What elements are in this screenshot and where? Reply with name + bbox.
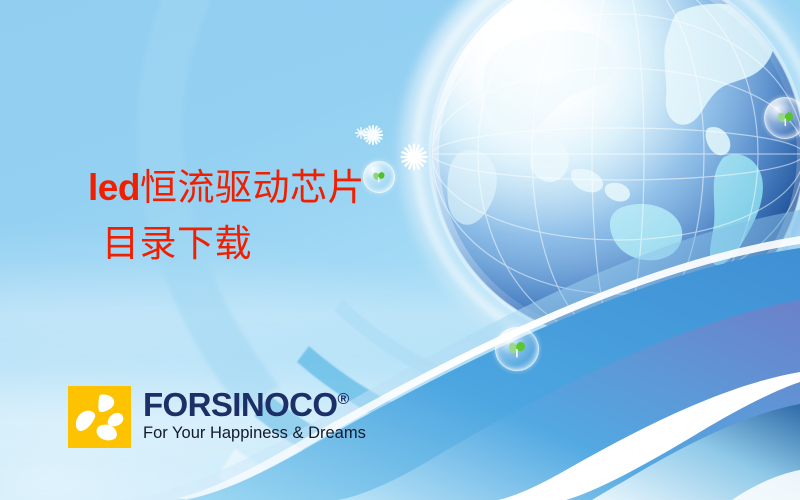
sprout-icon: [775, 108, 796, 129]
sparkle-mid-icon: [362, 124, 384, 146]
four-petal-flower-glyph: [68, 386, 131, 448]
bubble-sprout-left: [363, 161, 395, 193]
title-line-1: led恒流驱动芯片: [88, 166, 365, 209]
sparkle-large-icon: [400, 143, 428, 171]
brand-tagline: For Your Happiness & Dreams: [143, 424, 366, 442]
poster-canvas: led恒流驱动芯片 目录下载 FORSINOCO® For Your Happi…: [0, 0, 800, 500]
brand-logo: FORSINOCO® For Your Happiness & Dreams: [68, 386, 366, 448]
four-petal-flower-icon: [68, 386, 131, 448]
title-line-2: 目录下载: [88, 216, 365, 272]
brand-name-text: FORSINOCO: [143, 386, 337, 423]
registered-trademark-icon: ®: [337, 391, 349, 408]
sprout-icon: [371, 169, 387, 185]
bubble-sprout-right: [764, 97, 800, 139]
page-title: led恒流驱动芯片 目录下载: [88, 160, 365, 272]
title-latin-word: led: [88, 167, 140, 208]
sprout-icon: [506, 338, 528, 360]
brand-name: FORSINOCO®: [143, 388, 366, 421]
bubble-sprout-mid: [495, 327, 539, 371]
earth-globe: [422, 0, 800, 350]
brand-wordmark: FORSINOCO® For Your Happiness & Dreams: [143, 388, 366, 442]
title-cjk-phrase: 恒流驱动芯片: [140, 166, 365, 209]
